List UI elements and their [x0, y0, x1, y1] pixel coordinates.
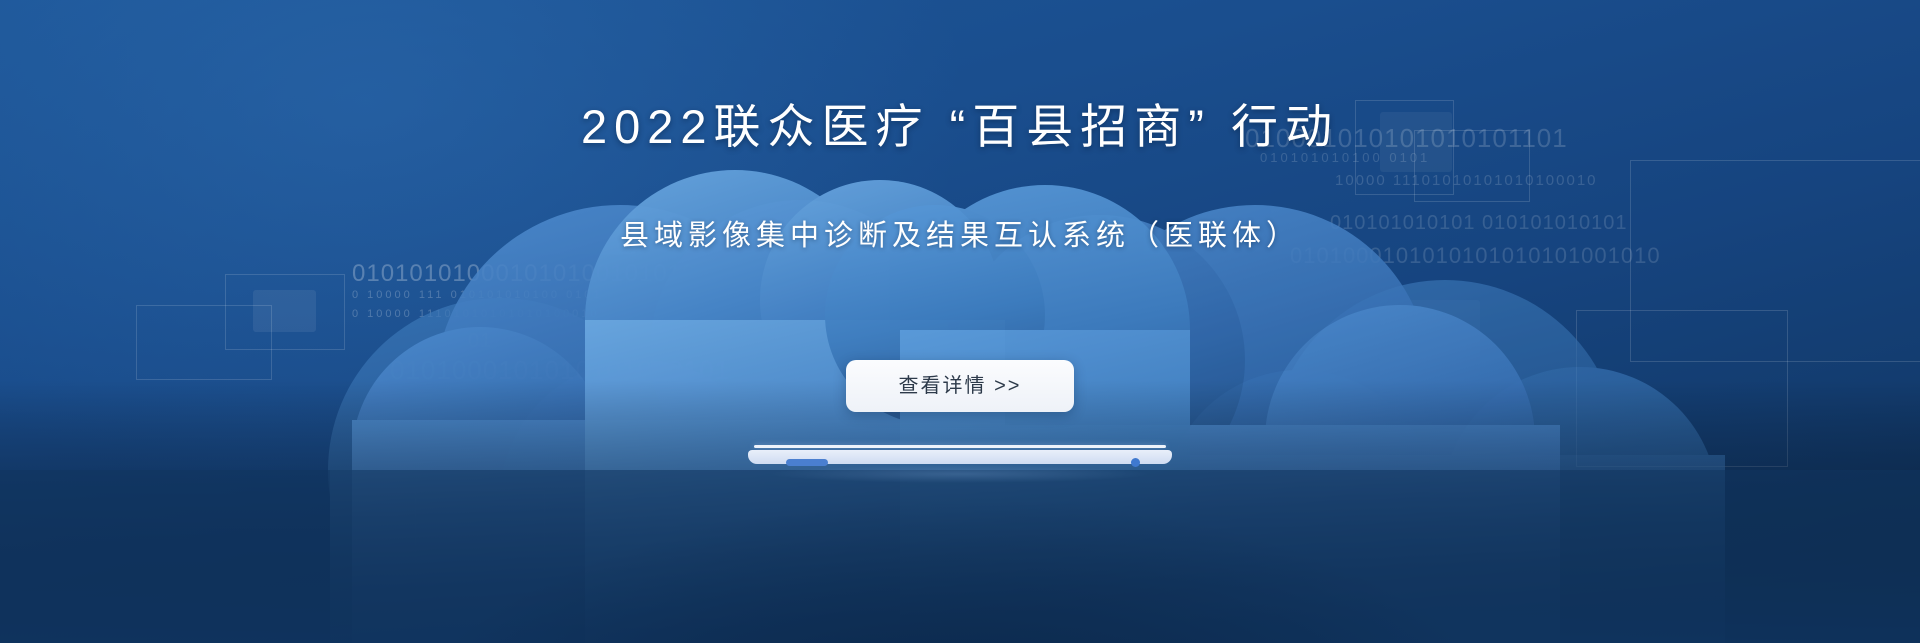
- promo-banner: 0101010100010101001010101 10 0 10000 111…: [0, 0, 1920, 643]
- background-vignette: [0, 0, 1920, 643]
